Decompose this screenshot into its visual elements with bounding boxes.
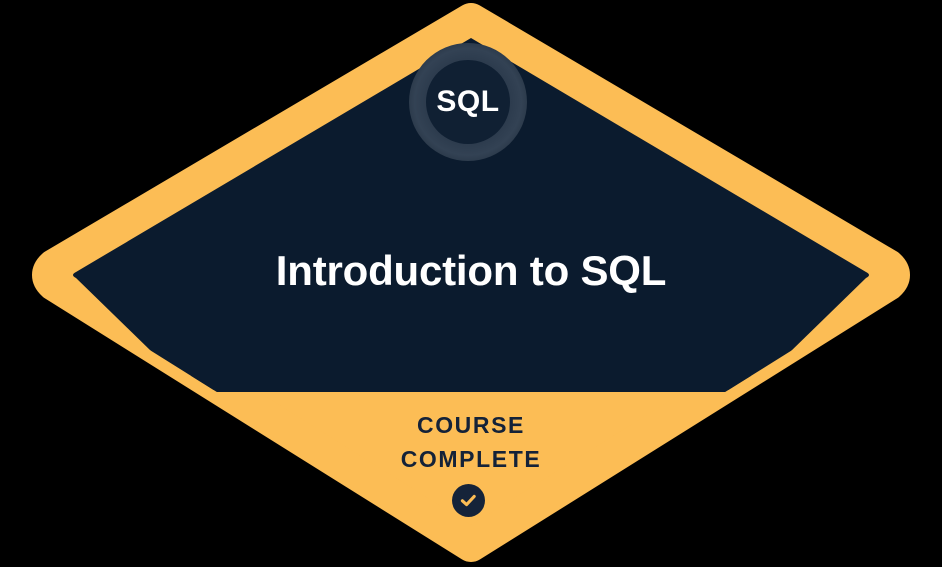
course-title: Introduction to SQL <box>0 244 942 298</box>
completion-status: COURSE COMPLETE <box>0 408 942 476</box>
sql-emblem-label: SQL <box>436 87 499 117</box>
completion-check-badge <box>452 484 485 517</box>
sql-emblem-inner-disc: SQL <box>426 60 510 144</box>
status-line-course: COURSE <box>0 408 942 442</box>
course-completion-badge: SQL Introduction to SQL COURSE COMPLETE <box>0 0 942 567</box>
status-line-complete: COMPLETE <box>0 442 942 476</box>
check-icon <box>459 491 478 510</box>
sql-emblem: SQL <box>409 43 527 161</box>
